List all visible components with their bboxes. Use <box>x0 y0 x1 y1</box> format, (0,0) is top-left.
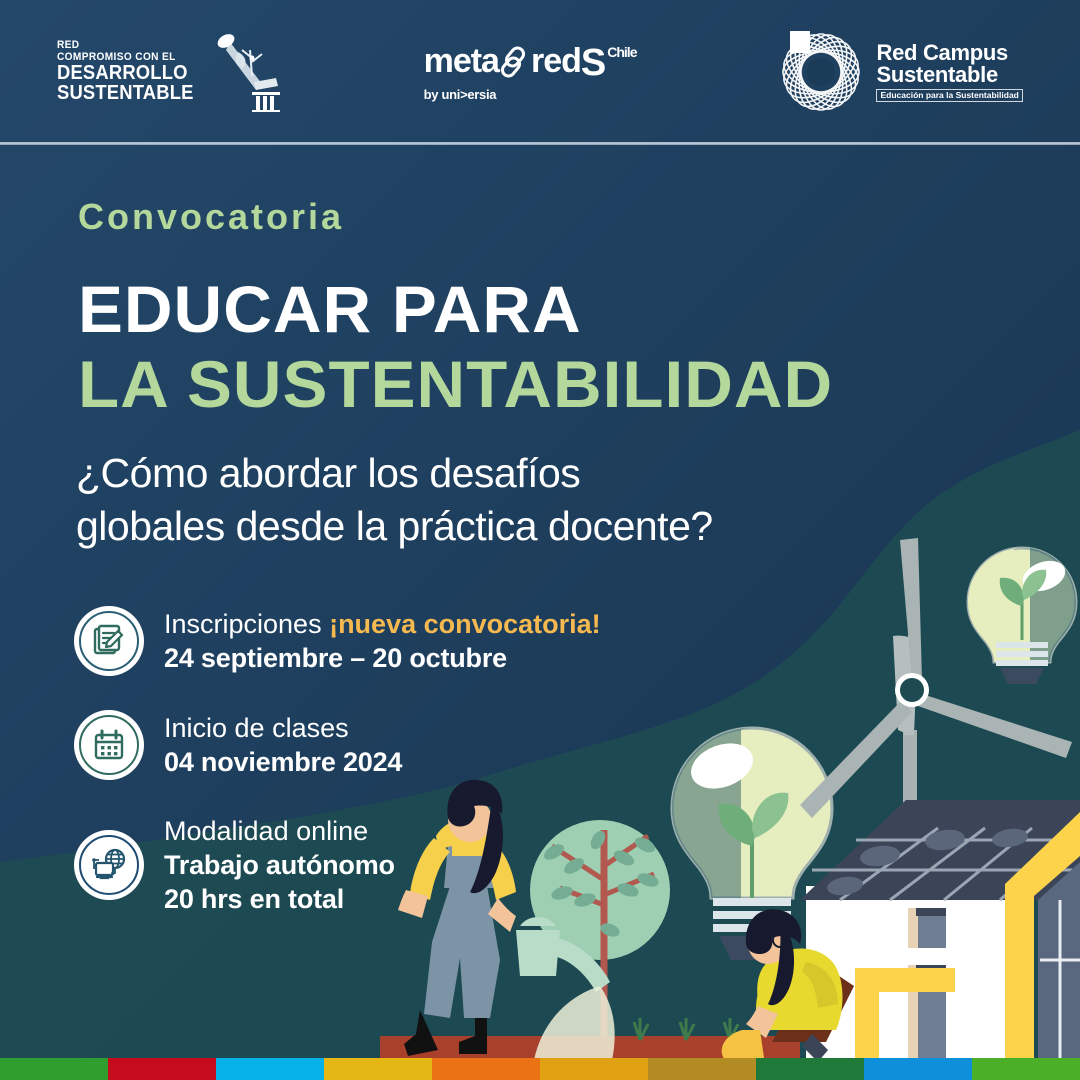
eyebrow-convocatoria: Convocatoria <box>78 196 1080 238</box>
sdg-color-segment-9 <box>864 1058 972 1080</box>
sdg-color-segment-3 <box>216 1058 324 1080</box>
sdg-color-segment-10 <box>972 1058 1080 1080</box>
info-item-inicio-clases: Inicio de clases 04 noviembre 2024 <box>74 710 1080 780</box>
main-content: Convocatoria EDUCAR PARA LA SUSTENTABILI… <box>0 144 1080 950</box>
info-text-inscripciones: Inscripciones ¡nueva convocatoria! 24 se… <box>164 607 601 675</box>
calendar-icon <box>74 710 144 780</box>
logo2-word-s: S <box>581 42 605 85</box>
spiral-mesh-icon <box>776 27 866 117</box>
sdg-color-bar <box>0 1058 1080 1080</box>
logo2-word-meta: meta <box>424 42 499 81</box>
logo-red-compromiso-desarrollo-sustentable: RED COMPROMISO CON EL DESARROLLO SUSTENT… <box>57 32 284 112</box>
info-label-2: Inicio de clases <box>164 711 402 745</box>
logo-red-campus-sustentable: Red Campus Sustentable Educación para la… <box>776 27 1022 117</box>
info-value-3: Trabajo autónomo <box>164 848 395 882</box>
info-item-inscripciones: Inscripciones ¡nueva convocatoria! 24 se… <box>74 606 1080 676</box>
sdg-color-segment-4 <box>324 1058 432 1080</box>
title-line-1: EDUCAR PARA <box>78 272 1080 347</box>
page-subtitle: ¿Cómo abordar los desafíos globales desd… <box>76 447 1080 554</box>
info-highlight-1: ¡nueva convocatoria! <box>329 609 601 639</box>
info-item-modalidad: Modalidad online Trabajo autónomo 20 hrs… <box>74 814 1080 916</box>
info-text-modalidad: Modalidad online Trabajo autónomo 20 hrs… <box>164 814 395 916</box>
info-value-3b: 20 hrs en total <box>164 882 395 916</box>
sdg-color-segment-7 <box>648 1058 756 1080</box>
logo1-line3: DESARROLLO <box>57 63 194 83</box>
info-value-2: 04 noviembre 2024 <box>164 745 402 779</box>
logo1-mark-icon <box>212 32 284 112</box>
info-value-1: 24 septiembre – 20 octubre <box>164 641 601 675</box>
subtitle-line-1: ¿Cómo abordar los desafíos <box>76 447 1080 500</box>
sdg-color-segment-5 <box>432 1058 540 1080</box>
title-line-2: LA SUSTENTABILIDAD <box>78 347 1080 422</box>
sdg-color-segment-8 <box>756 1058 864 1080</box>
info-label-3: Modalidad online <box>164 814 395 848</box>
subtitle-line-2: globales desde la práctica docente? <box>76 500 1080 553</box>
link-chain-icon <box>500 44 530 78</box>
logo3-line2: Sustentable <box>876 64 1022 86</box>
document-pen-icon <box>74 606 144 676</box>
logo-header: RED COMPROMISO CON EL DESARROLLO SUSTENT… <box>0 0 1080 144</box>
logo-metared-chile: meta red S Chile by uni>ersia <box>424 42 637 102</box>
sdg-color-segment-1 <box>0 1058 108 1080</box>
online-globe-monitor-icon <box>74 830 144 900</box>
info-list: Inscripciones ¡nueva convocatoria! 24 se… <box>74 606 1080 916</box>
logo2-subtitle: by uni>ersia <box>424 87 497 102</box>
logo2-word-red: red <box>531 42 581 81</box>
logo3-line1: Red Campus <box>876 42 1022 64</box>
info-label-1: Inscripciones <box>164 609 329 639</box>
logo1-line4: SUSTENTABLE <box>57 83 194 103</box>
logo3-line3: Educación para la Sustentabilidad <box>876 89 1022 102</box>
sdg-color-segment-2 <box>108 1058 216 1080</box>
logo2-chile: Chile <box>607 44 636 60</box>
info-text-inicio-clases: Inicio de clases 04 noviembre 2024 <box>164 711 402 779</box>
poster-canvas: RED COMPROMISO CON EL DESARROLLO SUSTENT… <box>0 0 1080 1080</box>
page-title: EDUCAR PARA LA SUSTENTABILIDAD <box>78 272 1080 421</box>
sdg-color-segment-6 <box>540 1058 648 1080</box>
